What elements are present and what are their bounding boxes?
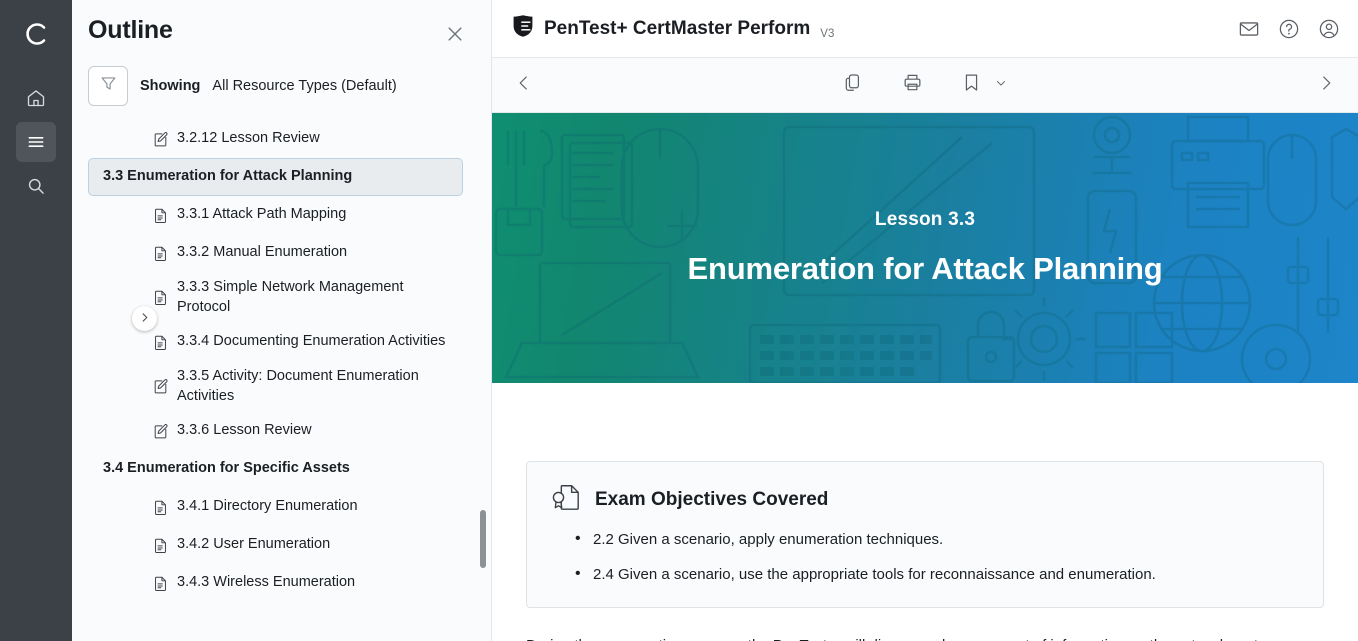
list-item: 2.2 Given a scenario, apply enumeration … xyxy=(593,529,1299,550)
outline-scrollbar-thumb[interactable] xyxy=(480,510,486,568)
comptia-shield-logo xyxy=(512,14,534,43)
document-icon xyxy=(151,334,169,351)
outline-item-label: 3.3.3 Simple Network Management Protocol xyxy=(177,278,452,317)
outline-item-label: 3.4.3 Wireless Enumeration xyxy=(177,573,355,593)
outline-item[interactable]: 3.4.2 User Enumeration xyxy=(88,526,463,564)
outline-header: Outline xyxy=(72,0,491,62)
outline-item-label: 3.3.4 Documenting Enumeration Activities xyxy=(177,332,445,352)
document-body: Exam Objectives Covered 2.2 Given a scen… xyxy=(492,383,1358,641)
outline-item[interactable]: 3.3.5 Activity: Document Enumeration Act… xyxy=(88,361,463,412)
exam-objectives-title: Exam Objectives Covered xyxy=(595,489,828,511)
page-title: Outline xyxy=(88,16,173,45)
bookmark-dropdown-button[interactable] xyxy=(994,76,1008,95)
user-account-icon[interactable] xyxy=(1318,18,1340,40)
lesson-hero-banner: Lesson 3.3 Enumeration for Attack Planni… xyxy=(492,113,1358,383)
showing-value[interactable]: All Resource Types (Default) xyxy=(212,78,396,94)
chevron-right-icon xyxy=(139,310,150,328)
document-toolbar xyxy=(492,58,1358,113)
activity-pencil-icon xyxy=(151,131,169,148)
toolbar-center-actions xyxy=(492,72,1358,98)
filter-button[interactable] xyxy=(88,66,128,106)
exam-objectives-header: Exam Objectives Covered xyxy=(551,482,1299,517)
hamburger-menu-icon xyxy=(26,132,46,152)
showing-label: Showing xyxy=(140,78,200,94)
search-icon xyxy=(26,176,46,196)
outline-item-label: 3.3.2 Manual Enumeration xyxy=(177,243,347,263)
document-icon xyxy=(151,499,169,516)
exam-objectives-list: 2.2 Given a scenario, apply enumeration … xyxy=(551,529,1299,585)
filter-row: Showing All Resource Types (Default) xyxy=(72,62,491,120)
rail-item-outline[interactable] xyxy=(16,122,56,162)
activity-pencil-icon xyxy=(151,378,169,395)
help-circle-icon[interactable] xyxy=(1278,18,1300,40)
close-icon xyxy=(445,31,465,48)
outline-item-label: 3.3.6 Lesson Review xyxy=(177,421,312,441)
outline-item[interactable]: 3.4 Enumeration for Specific Assets xyxy=(88,450,463,488)
mail-icon[interactable] xyxy=(1238,18,1260,40)
copy-button[interactable] xyxy=(843,72,864,98)
document-icon xyxy=(151,575,169,592)
copy-icon xyxy=(843,72,864,98)
certificate-document-icon xyxy=(551,482,581,517)
outline-item[interactable]: 3.3.1 Attack Path Mapping xyxy=(88,196,463,234)
collapse-panel-handle[interactable] xyxy=(132,306,157,331)
exam-objectives-card: Exam Objectives Covered 2.2 Given a scen… xyxy=(526,461,1324,608)
document-icon xyxy=(151,289,169,306)
previous-page-button[interactable] xyxy=(506,67,542,103)
document-icon xyxy=(151,245,169,262)
outline-scrollbar[interactable] xyxy=(480,120,486,641)
chevron-down-icon xyxy=(994,76,1008,95)
hero-lesson-title: Enumeration for Attack Planning xyxy=(688,251,1163,287)
outline-item[interactable]: 3.4.3 Wireless Enumeration xyxy=(88,564,463,602)
filter-funnel-icon xyxy=(99,74,118,98)
outline-item-label: 3.2.12 Lesson Review xyxy=(177,129,320,149)
brand: PenTest+ CertMaster Perform V3 xyxy=(512,14,834,43)
chevron-right-icon xyxy=(1317,74,1335,97)
activity-pencil-icon xyxy=(151,423,169,440)
hero-line-art xyxy=(492,113,1358,383)
brand-version: V3 xyxy=(820,28,834,43)
outline-panel: Outline Showing All Resource T xyxy=(72,0,492,641)
icon-rail xyxy=(0,0,72,641)
rail-item-home[interactable] xyxy=(16,78,56,118)
header-actions xyxy=(1238,18,1340,40)
outline-item[interactable]: 3.3.6 Lesson Review xyxy=(88,412,463,450)
list-item: 2.4 Given a scenario, use the appropriat… xyxy=(593,564,1299,585)
outline-item-label: 3.3.1 Attack Path Mapping xyxy=(177,205,346,225)
app-root: Outline Showing All Resource T xyxy=(0,0,1358,641)
document-icon xyxy=(151,537,169,554)
print-icon xyxy=(902,72,923,98)
outline-item-label: 3.3 Enumeration for Attack Planning xyxy=(103,167,352,187)
outline-item-label: 3.4.2 User Enumeration xyxy=(177,535,330,555)
body-paragraph: During the enumeration process, the PenT… xyxy=(526,634,1316,641)
next-page-button[interactable] xyxy=(1308,67,1344,103)
brand-name: PenTest+ CertMaster Perform xyxy=(544,18,810,40)
print-button[interactable] xyxy=(902,72,923,98)
hero-lesson-label: Lesson 3.3 xyxy=(875,209,975,231)
rail-item-search[interactable] xyxy=(16,166,56,206)
outline-item[interactable]: 3.4.1 Directory Enumeration xyxy=(88,488,463,526)
outline-list: 3.2.12 Lesson Review3.3 Enumeration for … xyxy=(72,120,491,641)
outline-item[interactable]: 3.3 Enumeration for Attack Planning xyxy=(88,158,463,196)
outline-item[interactable]: 3.2.12 Lesson Review xyxy=(88,120,463,158)
close-outline-button[interactable] xyxy=(441,20,469,53)
bookmark-button[interactable] xyxy=(961,72,982,98)
document-icon xyxy=(151,207,169,224)
main-content: PenTest+ CertMaster Perform V3 xyxy=(492,0,1358,641)
outline-item-label: 3.4.1 Directory Enumeration xyxy=(177,497,358,517)
home-icon xyxy=(26,88,46,108)
bookmark-icon xyxy=(961,72,982,98)
outline-item-label: 3.4 Enumeration for Specific Assets xyxy=(103,459,350,479)
outline-item[interactable]: 3.3.2 Manual Enumeration xyxy=(88,234,463,272)
outline-item-label: 3.3.5 Activity: Document Enumeration Act… xyxy=(177,367,452,406)
app-header: PenTest+ CertMaster Perform V3 xyxy=(492,0,1358,58)
lesson-document: Lesson 3.3 Enumeration for Attack Planni… xyxy=(492,113,1358,641)
circular-c-logo xyxy=(16,14,56,54)
chevron-left-icon xyxy=(515,74,533,97)
